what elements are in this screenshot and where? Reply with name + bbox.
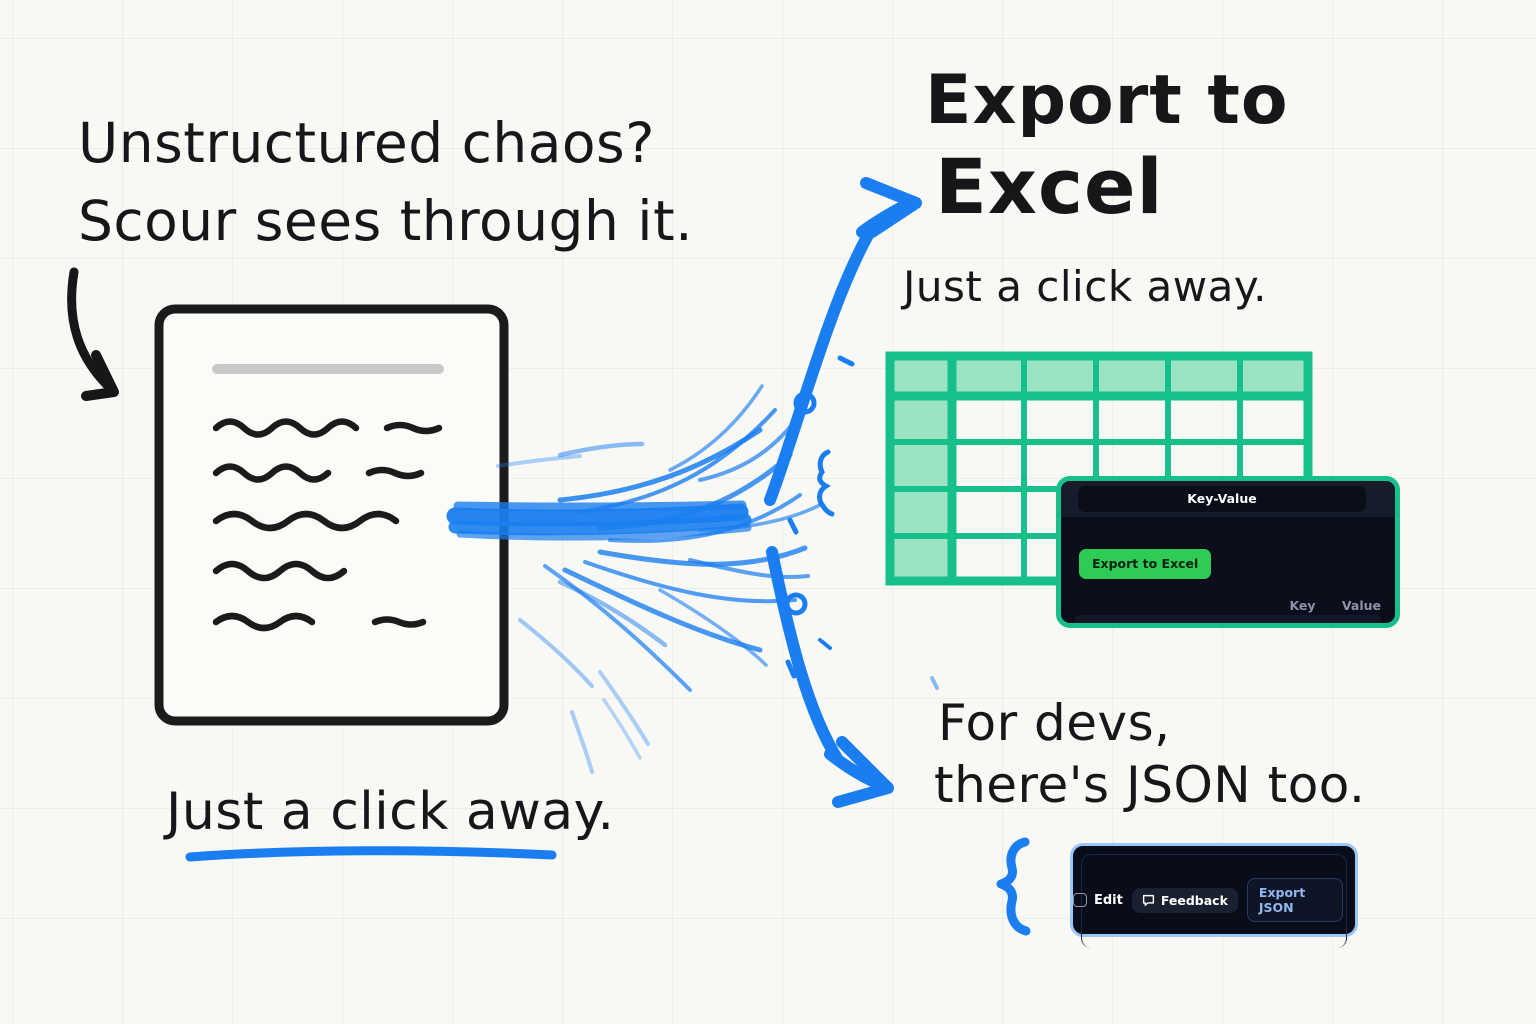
page-title: Unstructured chaos? Scour sees through i… (78, 104, 693, 260)
devs-title-line-2: there's JSON too. (934, 754, 1365, 816)
excel-title-line-2: Excel (925, 144, 1289, 230)
headline-line-1: Unstructured chaos? (78, 111, 655, 175)
export-to-excel-button[interactable]: Export to Excel (1079, 549, 1211, 579)
edit-checkbox[interactable] (1073, 893, 1087, 907)
burst-strokes (455, 183, 916, 802)
edit-checkbox-group[interactable]: Edit (1073, 893, 1123, 908)
column-header-key: Key (1289, 598, 1315, 613)
json-action-bar: Edit Feedback Export JSON (1073, 878, 1343, 922)
edit-label: Edit (1094, 893, 1123, 908)
speech-bubble-icon (1142, 894, 1155, 907)
unstructured-document (150, 300, 520, 730)
document-title-bar (212, 364, 444, 374)
glyph-tick-d (820, 640, 830, 648)
footer-note: Just a click away. (166, 782, 615, 842)
devs-branch-title: For devs, there's JSON too. (938, 692, 1365, 816)
export-json-button[interactable]: Export JSON (1247, 878, 1343, 922)
json-panel[interactable]: Edit Feedback Export JSON (1070, 843, 1358, 937)
excel-title-line-1: Export to (925, 61, 1289, 140)
glyph-circle-upper (796, 394, 814, 412)
devs-title-line-1: For devs, (938, 694, 1171, 752)
key-value-row-strip (1075, 615, 1381, 623)
glyph-brace-mid (820, 452, 832, 514)
glyph-tick-a (790, 520, 796, 532)
glyph-tick-b (840, 358, 852, 364)
tab-key-value[interactable]: Key-Value (1078, 486, 1366, 512)
footer-underline (190, 851, 552, 857)
poster-canvas: Unstructured chaos? Scour sees through i… (0, 0, 1536, 1024)
black-pointer-arrow (72, 272, 114, 396)
feedback-button[interactable]: Feedback (1132, 888, 1238, 913)
excel-branch-subtitle: Just a click away. (903, 262, 1267, 311)
headline-line-2: Scour sees through it. (78, 182, 693, 260)
glyph-tick-e (932, 678, 937, 688)
key-value-panel[interactable]: Key-Value Export to Excel Key Value (1056, 476, 1400, 628)
feedback-label: Feedback (1161, 893, 1228, 908)
json-brace-icon (1001, 842, 1026, 931)
glyph-tick-c (788, 662, 794, 676)
column-header-value: Value (1342, 598, 1381, 613)
excel-branch-title: Export to Excel (925, 58, 1289, 230)
key-value-column-headers: Key Value (1061, 598, 1381, 613)
glyph-circle-lower (787, 595, 805, 613)
